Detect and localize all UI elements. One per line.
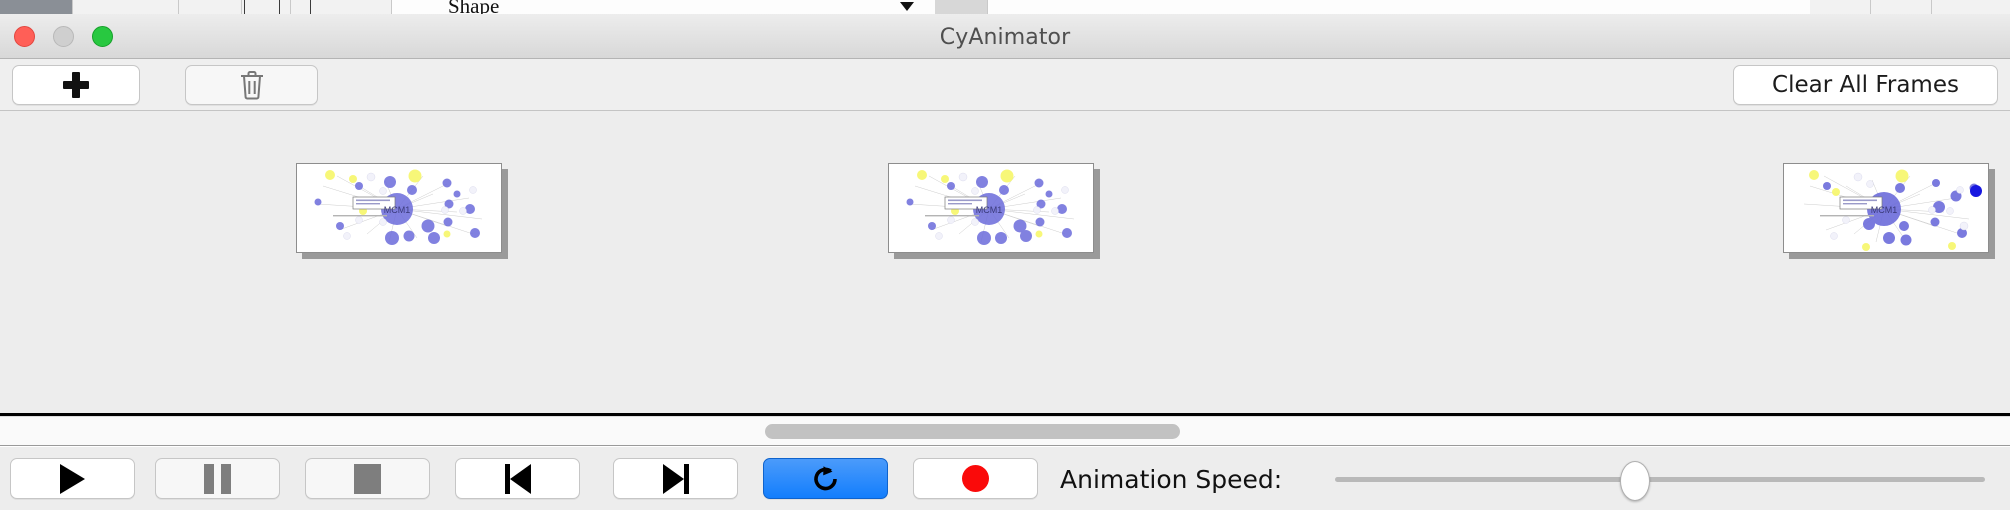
pause-icon bbox=[204, 464, 231, 494]
slider-track[interactable] bbox=[1335, 477, 1985, 482]
timeline-frame-3[interactable]: MCM1 bbox=[1783, 163, 1995, 259]
bg-tab bbox=[73, 0, 179, 14]
bg-tab bbox=[1871, 0, 1932, 14]
slider-thumb[interactable] bbox=[1620, 461, 1650, 501]
record-icon bbox=[962, 465, 989, 492]
stop-button[interactable] bbox=[305, 458, 430, 499]
bg-tab bbox=[242, 0, 291, 14]
loop-icon bbox=[811, 463, 841, 495]
trash-icon bbox=[239, 70, 265, 100]
bg-tab bbox=[935, 0, 988, 14]
frames-toolbar: Clear All Frames bbox=[0, 59, 2010, 111]
add-frame-button[interactable] bbox=[12, 65, 140, 105]
scrollbar-thumb[interactable] bbox=[765, 424, 1180, 439]
skip-to-start-button[interactable] bbox=[455, 458, 580, 499]
bg-window-label: Shape bbox=[448, 0, 499, 15]
play-icon bbox=[60, 464, 85, 494]
timeline-frame-2[interactable]: MCM1 bbox=[888, 163, 1100, 259]
bg-tab bbox=[1810, 0, 1871, 14]
bg-divider bbox=[310, 0, 311, 14]
plus-icon bbox=[63, 72, 89, 98]
pause-button[interactable] bbox=[155, 458, 280, 499]
timeline-frame-1[interactable]: MCM1 bbox=[296, 163, 508, 259]
animation-speed-slider[interactable] bbox=[1335, 477, 1985, 482]
record-button[interactable] bbox=[913, 458, 1038, 499]
stop-icon bbox=[354, 464, 381, 494]
transport-bar: Animation Speed: bbox=[0, 447, 2010, 510]
svg-text:MCM1: MCM1 bbox=[384, 205, 411, 215]
clear-all-frames-button[interactable]: Clear All Frames bbox=[1733, 65, 1998, 105]
svg-text:MCM1: MCM1 bbox=[1871, 205, 1898, 215]
bg-tab bbox=[179, 0, 242, 14]
frame-thumbnail-image: MCM1 bbox=[888, 163, 1094, 253]
svg-text:MCM1: MCM1 bbox=[976, 205, 1003, 215]
timeline-panel[interactable]: MCM1 bbox=[0, 111, 2010, 416]
play-button[interactable] bbox=[10, 458, 135, 499]
delete-frame-button[interactable] bbox=[185, 65, 318, 105]
skip-back-icon bbox=[505, 464, 531, 494]
window-title: CyAnimator bbox=[0, 25, 2010, 50]
timeline-horizontal-scrollbar[interactable] bbox=[0, 416, 2010, 446]
bg-divider bbox=[279, 0, 280, 14]
bg-tab-selected bbox=[0, 0, 73, 14]
bg-tab bbox=[291, 0, 392, 14]
bg-caret-icon bbox=[900, 2, 914, 11]
background-window-strip: Shape bbox=[0, 0, 2010, 15]
frame-thumbnail-image: MCM1 bbox=[296, 163, 502, 253]
clear-all-frames-label: Clear All Frames bbox=[1772, 72, 1959, 98]
bg-tab bbox=[1932, 0, 2010, 14]
frame-thumbnail-image: MCM1 bbox=[1783, 163, 1989, 253]
skip-to-end-button[interactable] bbox=[613, 458, 738, 499]
skip-forward-icon bbox=[663, 464, 689, 494]
animation-speed-label: Animation Speed: bbox=[1060, 465, 1282, 494]
window-title-bar: CyAnimator bbox=[0, 14, 2010, 59]
loop-button[interactable] bbox=[763, 458, 888, 499]
bg-divider bbox=[244, 0, 245, 14]
